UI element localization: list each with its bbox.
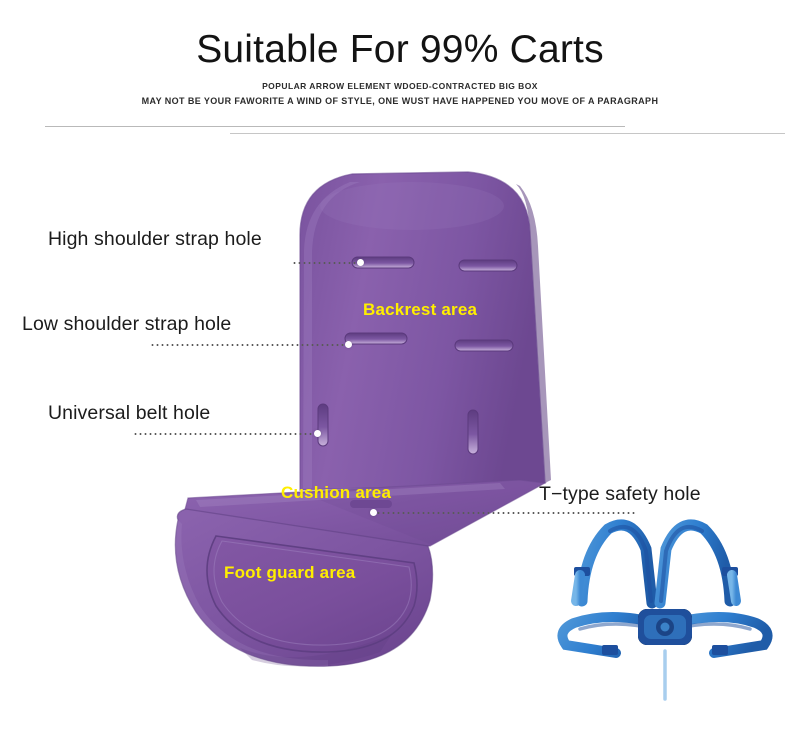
leader-line-universal-belt bbox=[133, 433, 318, 435]
leader-endpoint-universal-belt bbox=[314, 430, 321, 437]
harness-shoulder-straps bbox=[582, 525, 730, 603]
safety-harness-illustration bbox=[540, 505, 790, 705]
zone-label-cushion-area: Cushion area bbox=[281, 483, 391, 503]
leader-line-low-shoulder bbox=[150, 344, 350, 346]
zone-label-foot-guard-area: Foot guard area bbox=[224, 563, 355, 583]
callout-universal-belt-hole: Universal belt hole bbox=[48, 402, 210, 425]
leader-endpoint-high-shoulder bbox=[357, 259, 364, 266]
callout-t-type-safety-hole: T−type safety hole bbox=[539, 483, 701, 506]
callout-high-shoulder-strap-hole: High shoulder strap hole bbox=[48, 228, 262, 251]
infographic-page: Suitable For 99% Carts POPULAR ARROW ELE… bbox=[0, 0, 800, 746]
zone-label-backrest-area: Backrest area bbox=[363, 300, 477, 320]
leader-endpoint-t-type bbox=[370, 509, 377, 516]
leader-line-high-shoulder bbox=[292, 262, 364, 264]
leader-endpoint-low-shoulder bbox=[345, 341, 352, 348]
harness-shoulder-adjusters bbox=[574, 567, 738, 576]
backrest-panel bbox=[300, 172, 551, 490]
callout-low-shoulder-strap-hole: Low shoulder strap hole bbox=[22, 313, 231, 336]
